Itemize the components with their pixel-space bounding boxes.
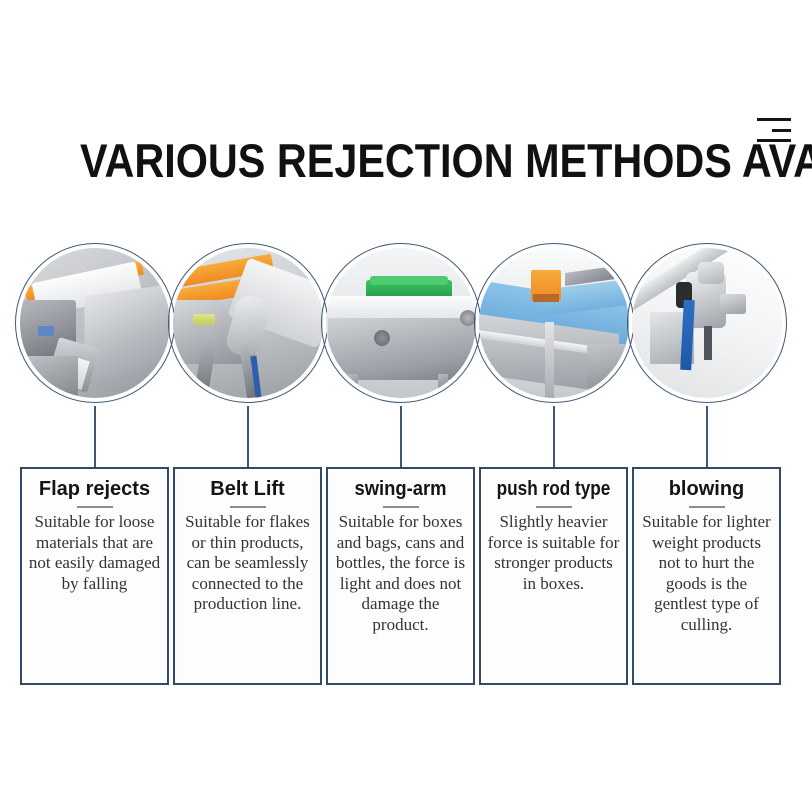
method-image-swing-arm (321, 243, 481, 403)
title-divider (77, 506, 113, 508)
connector-line-swing-arm (400, 406, 402, 467)
method-images-row (0, 243, 812, 408)
circle-photo-clip (632, 248, 782, 398)
belt-lift-mechanism-photo (173, 248, 323, 398)
method-card-flap-rejects[interactable]: Flap rejects Suitable for loose material… (20, 467, 169, 685)
method-card-belt-lift[interactable]: Belt Lift Suitable for flakes or thin pr… (173, 467, 322, 685)
circle-photo-clip (479, 248, 629, 398)
method-card-title: push rod type (496, 477, 610, 501)
circle-photo-clip (20, 248, 170, 398)
method-card-swing-arm[interactable]: swing-arm Suitable for boxes and bags, c… (326, 467, 475, 685)
method-card-description: Suitable for boxes and bags, cans and bo… (334, 512, 467, 635)
method-image-belt-lift (168, 243, 328, 403)
title-divider (230, 506, 266, 508)
connector-line-push-rod-type (553, 406, 555, 467)
flap-reject-mechanism-photo (20, 248, 170, 398)
circle-photo-clip (326, 248, 476, 398)
menu-bar-top (757, 118, 791, 121)
title-divider (383, 506, 419, 508)
connector-line-flap-rejects (94, 406, 96, 467)
method-image-blowing (627, 243, 787, 403)
method-card-title: Belt Lift (181, 477, 314, 501)
menu-bar-middle (772, 129, 791, 132)
air-blowing-nozzle-photo (632, 248, 782, 398)
method-card-description: Slightly heavier force is suitable for s… (487, 512, 620, 594)
title-divider (536, 506, 572, 508)
page-title: VARIOUS REJECTION METHODS AVAILABLE (80, 136, 812, 186)
method-card-push-rod-type[interactable]: push rod type Slightly heavier force is … (479, 467, 628, 685)
push-rod-mechanism-photo (479, 248, 629, 398)
method-card-blowing[interactable]: blowing Suitable for lighter weight prod… (632, 467, 781, 685)
swing-arm-mechanism-photo (326, 248, 476, 398)
title-divider (689, 506, 725, 508)
method-card-title: blowing (640, 477, 773, 501)
method-card-description: Suitable for lighter weight products not… (640, 512, 773, 635)
method-card-description: Suitable for loose materials that are no… (28, 512, 161, 594)
method-card-title: swing-arm (339, 477, 461, 501)
connector-line-blowing (706, 406, 708, 467)
circle-photo-clip (173, 248, 323, 398)
connector-line-belt-lift (247, 406, 249, 467)
method-image-push-rod-type (474, 243, 634, 403)
rejection-methods-infographic: VARIOUS REJECTION METHODS AVAILABLE (0, 0, 812, 812)
method-image-flap-rejects (15, 243, 175, 403)
method-card-title: Flap rejects (28, 477, 161, 501)
method-card-description: Suitable for flakes or thin products, ca… (181, 512, 314, 615)
